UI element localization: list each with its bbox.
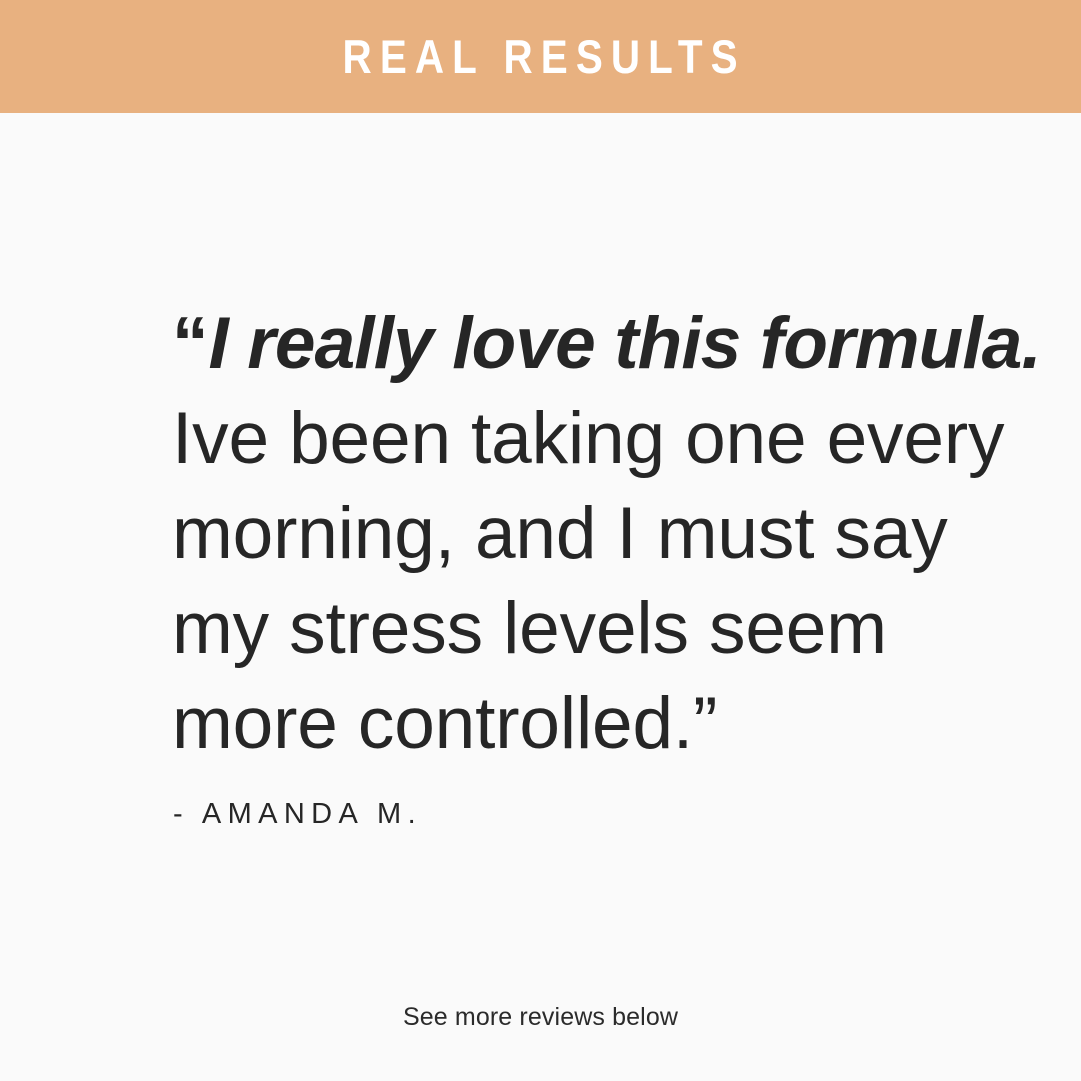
testimonial-quote: “I really love this formula. Ive been ta… (172, 296, 1002, 771)
quote-line-1-text: I really love this formula. (209, 303, 1041, 384)
quote-line-4: my stress levels seem (172, 581, 1002, 676)
see-more-reviews-note: See more reviews below (0, 1003, 1081, 1032)
open-quote-icon: “ (172, 303, 209, 384)
testimonial-card: REAL RESULTS “I really love this formula… (0, 0, 1081, 1081)
page-title: REAL RESULTS (335, 33, 746, 80)
header-band: REAL RESULTS (0, 0, 1081, 113)
quote-attribution: - AMANDA M. (173, 798, 422, 831)
quote-line-5: more controlled.” (172, 676, 1002, 771)
quote-line-1: “I really love this formula. (172, 296, 1002, 391)
quote-line-3: morning, and I must say (172, 486, 1002, 581)
quote-line-2: Ive been taking one every (172, 391, 1002, 486)
